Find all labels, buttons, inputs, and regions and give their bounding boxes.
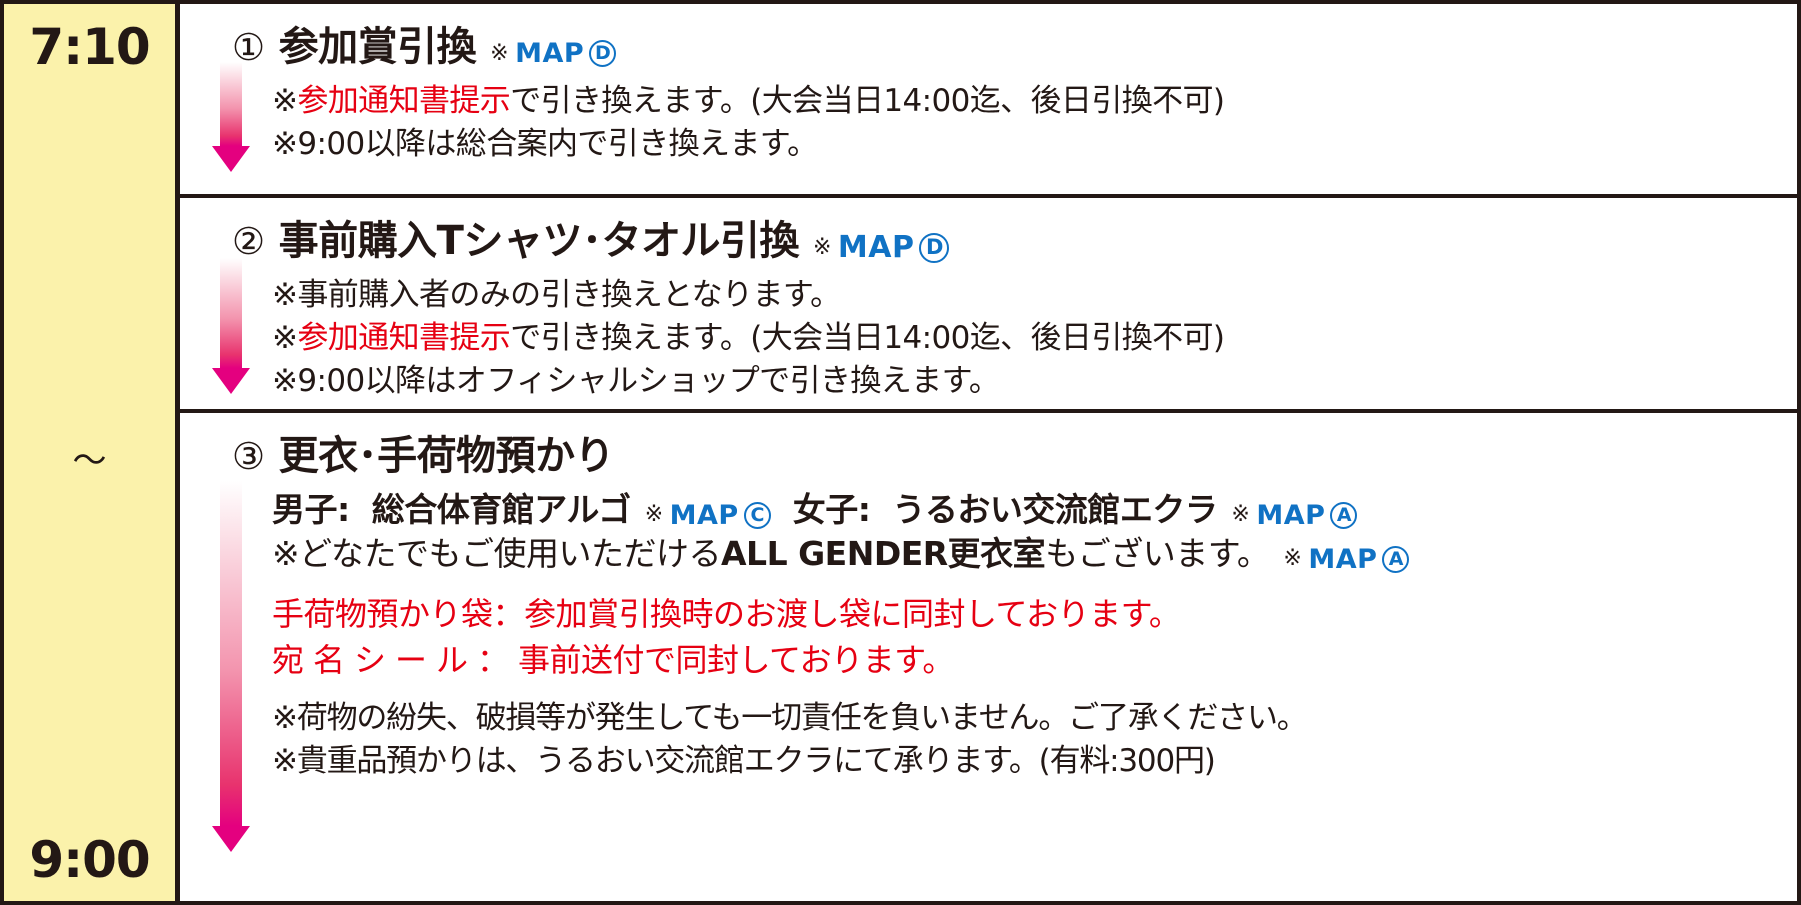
arrow-gutter [180,208,272,397]
row-1-body: ① 参加賞引換 ※ MAP D ※参加通知書提示で引き換えます。(大会当日14:… [272,14,1797,182]
time-end: 9:00 [29,835,149,885]
map-marker-d: ※ MAP D [813,230,950,265]
map-letter-badge: D [919,233,949,263]
row-2-note-2: ※参加通知書提示で引き換えます。(大会当日14:00迄、後日引換不可) [272,317,1787,360]
map-marker-c: ※ MAP C [645,498,771,533]
kome-icon: ※ [490,41,508,66]
baggage-bag-text: 参加賞引換時のお渡し袋に同封しております。 [524,595,1180,633]
map-label: MAP [515,38,584,69]
address-sticker-text: 事前送付で同封しております。 [518,641,954,679]
schedule-rows: ① 参加賞引換 ※ MAP D ※参加通知書提示で引き換えます。(大会当日14:… [180,0,1801,905]
note-prefix: ※ [272,320,297,356]
men-label: 男子: [272,489,350,532]
note-suffix: で引き換えます。(大会当日14:00迄、後日引換不可) [510,83,1224,119]
kome-icon: ※ [813,235,831,260]
note-red: 参加通知書提示 [297,320,510,356]
kome-icon: ※ [1283,545,1301,574]
all-gender-prefix: ※どなたでもご使用いただける [272,533,721,576]
all-gender-suffix: もございます。 [1045,533,1269,576]
map-label: MAP [670,498,739,533]
note-prefix: ※ [272,83,297,119]
changing-room-venues: 男子: 総合体育館アルゴ ※ MAP C 女子: うるおい交流館エクラ ※ MA… [272,489,1787,533]
women-label: 女子: [793,489,871,532]
schedule-row-2: ② 事前購入Tシャツ･タオル引換 ※ MAP D ※事前購入者のみの引き換えとな… [180,194,1797,409]
men-place: 総合体育館アルゴ [372,489,631,532]
note-suffix: で引き換えます。(大会当日14:00迄、後日引換不可) [510,320,1224,356]
row-2-title: 事前購入Tシャツ･タオル引換 [279,208,799,266]
row-1-heading: ① 参加賞引換 ※ MAP D [232,14,1787,72]
address-sticker-label: 宛名シール： [272,641,518,679]
row-2-body: ② 事前購入Tシャツ･タオル引換 ※ MAP D ※事前購入者のみの引き換えとな… [272,208,1797,397]
down-arrow-icon [220,481,242,852]
row-2-note-3: ※9:00以降はオフィシャルショップで引き換えます。 [272,360,1787,403]
map-letter-badge: A [1382,546,1409,573]
down-arrow-icon [220,62,242,172]
baggage-bag-label: 手荷物預かり袋： [272,595,524,633]
map-marker-a: ※ MAP A [1283,542,1409,577]
row-3-note-1: ※荷物の紛失、破損等が発生しても一切責任を負いません。ご了承ください。 [272,697,1787,740]
map-letter-badge: C [744,502,771,529]
schedule-row-3: ③ 更衣･手荷物預かり 男子: 総合体育館アルゴ ※ MAP C 女子: [180,409,1797,901]
row-2-note-1: ※事前購入者のみの引き換えとなります。 [272,274,1787,317]
women-place: うるおい交流館エクラ [892,489,1217,532]
all-gender-note: ※どなたでもご使用いただける ALL GENDER更衣室 もございます。 ※ M… [272,533,1787,577]
schedule-table: 7:10 〜 9:00 ① 参加賞引換 ※ MAP D [0,0,1801,905]
map-letter-badge: A [1330,502,1357,529]
time-range-tilde: 〜 [73,444,107,478]
map-marker-a: ※ MAP A [1231,498,1357,533]
map-label: MAP [1256,498,1325,533]
all-gender-emphasis: ALL GENDER更衣室 [721,533,1045,576]
arrow-gutter [180,14,272,182]
row-3-heading: ③ 更衣･手荷物預かり [232,423,1787,481]
kome-icon: ※ [645,501,663,530]
address-sticker-note: 宛名シール：事前送付で同封しております。 [272,637,1787,683]
map-label: MAP [838,230,915,265]
arrow-gutter [180,423,272,889]
row-3-note-2: ※貴重品預かりは、うるおい交流館エクラにて承ります。(有料:300円) [272,740,1787,783]
row-1-note-1: ※参加通知書提示で引き換えます。(大会当日14:00迄、後日引換不可) [272,80,1787,123]
row-3-title: 更衣･手荷物預かり [279,423,615,481]
map-marker-d: ※ MAP D [490,38,616,69]
row-2-heading: ② 事前購入Tシャツ･タオル引換 ※ MAP D [232,208,1787,266]
row-1-note-2: ※9:00以降は総合案内で引き換えます。 [272,123,1787,166]
schedule-row-1: ① 参加賞引換 ※ MAP D ※参加通知書提示で引き換えます。(大会当日14:… [180,4,1797,194]
row-1-title: 参加賞引換 [279,14,477,72]
time-start: 7:10 [29,22,149,72]
down-arrow-icon [220,258,242,394]
baggage-bag-note: 手荷物預かり袋：参加賞引換時のお渡し袋に同封しております。 [272,591,1787,637]
map-label: MAP [1308,542,1377,577]
row-3-body: ③ 更衣･手荷物預かり 男子: 総合体育館アルゴ ※ MAP C 女子: [272,423,1797,889]
kome-icon: ※ [1231,501,1249,530]
map-letter-badge: D [589,40,616,67]
note-red: 参加通知書提示 [297,83,510,119]
time-column: 7:10 〜 9:00 [0,0,180,905]
